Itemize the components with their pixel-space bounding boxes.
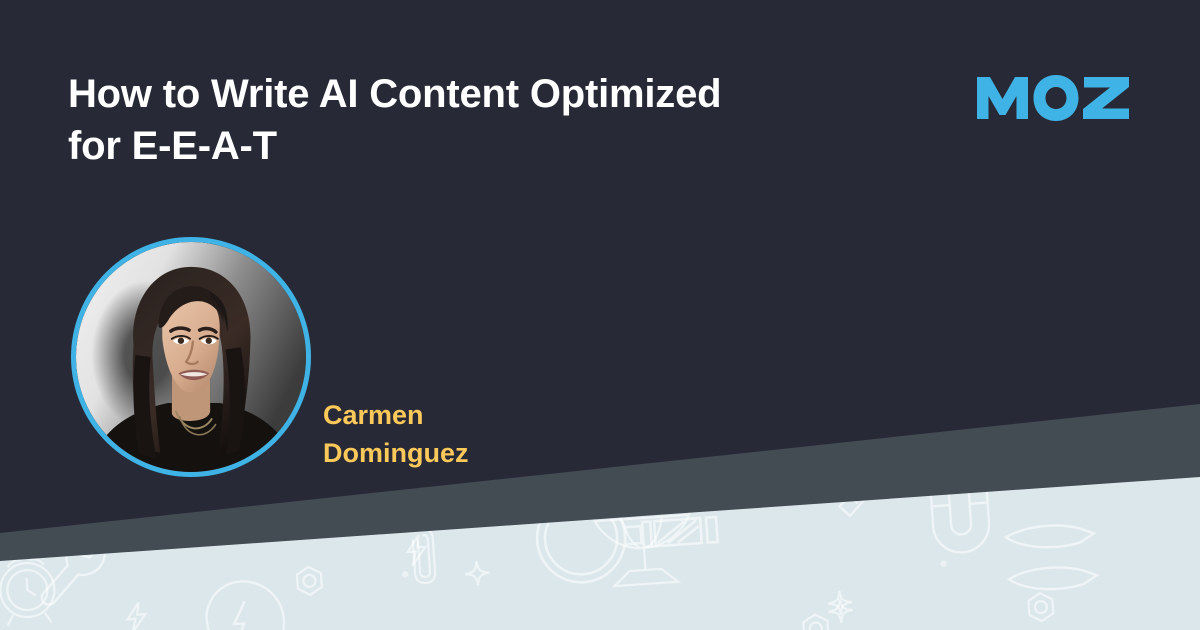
avatar (71, 237, 311, 477)
page-title: How to Write AI Content Optimized for E-… (68, 68, 788, 172)
alarm-clock-icon (0, 558, 57, 626)
social-share-card: How to Write AI Content Optimized for E-… (0, 0, 1200, 630)
dot-icon (402, 571, 409, 578)
moz-logo[interactable] (977, 74, 1129, 122)
author-name: Carmen Dominguez (323, 396, 653, 472)
star-icon (464, 561, 490, 587)
hex-nut-icon (1028, 592, 1054, 622)
magnet-icon (931, 491, 991, 555)
lightning-bolt-icon (126, 602, 146, 630)
pliers-icon (1005, 523, 1097, 592)
hex-nut-icon (803, 614, 829, 630)
lightbulb-icon (197, 579, 287, 630)
lightning-bolt-icon (407, 535, 427, 566)
hex-nut-icon (296, 566, 322, 596)
dot-icon (940, 560, 947, 567)
